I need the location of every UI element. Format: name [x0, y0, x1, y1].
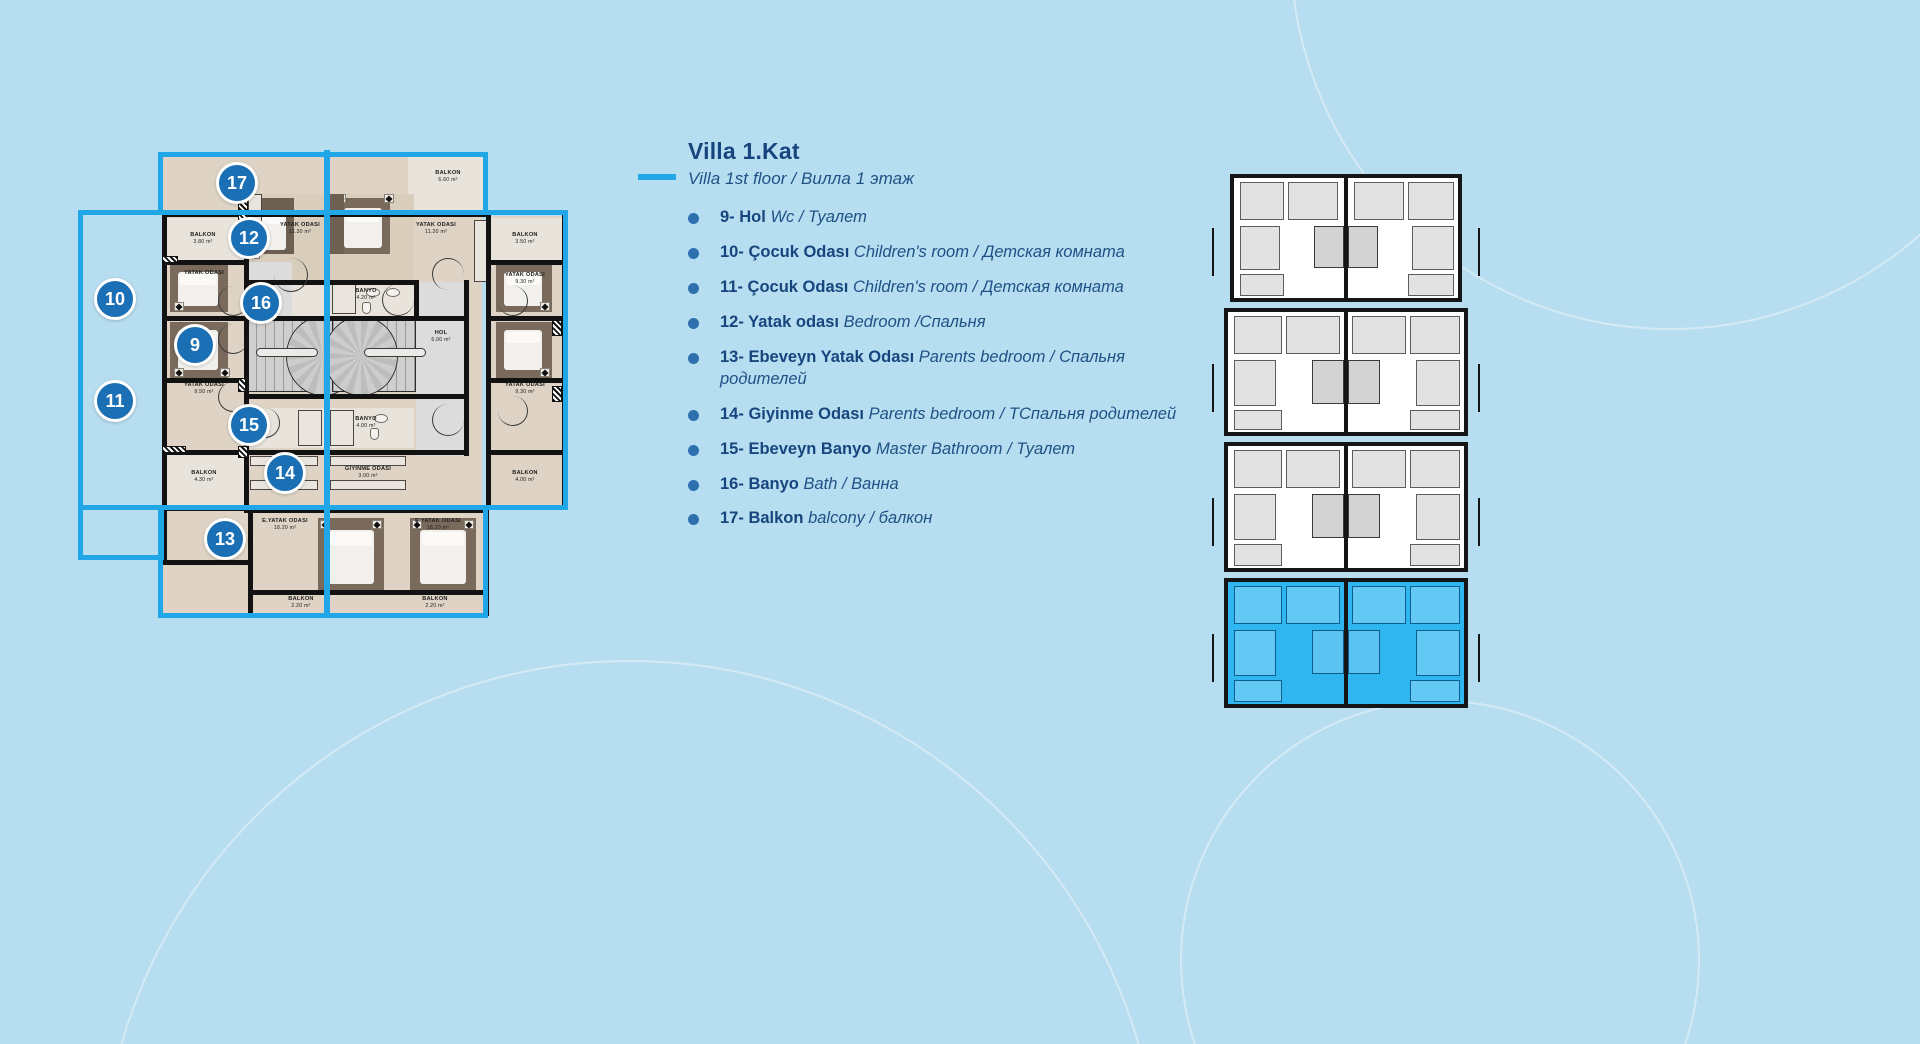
room-area: 11.20 m² [425, 229, 447, 235]
legend-number: 14- [720, 405, 744, 423]
legend-item-17[interactable]: 17- Balkon balcony / балкон [688, 508, 1208, 530]
legend-translation: balcony / балкон [808, 509, 932, 527]
room-area: 18.20 m² [274, 525, 296, 531]
room-label-balkon-right-bottom: BALKON 4.00 m² [488, 470, 562, 484]
room-label-yatak-left-top: YATAK ODASI 11.30 m² [262, 222, 338, 236]
legend-item-9[interactable]: 9- Hol Wc / Туалет [688, 207, 1208, 229]
villa-floor-plan[interactable]: BALKON 3.80 m² YATAK ODASI 11.30 m² BALK… [78, 150, 568, 620]
marker-label: 14 [275, 463, 295, 484]
legend-header: Villa 1.Kat Villa 1st floor / Вилла 1 эт… [688, 138, 1208, 189]
decorative-arc [100, 660, 1160, 1044]
room-name: E.YATAK ODASI [262, 518, 308, 524]
room-label-yatak-left-mid: YATAK ODASI 9.50 m² [166, 382, 242, 396]
bullet-icon [688, 318, 699, 329]
legend-name: Ebeveyn Banyo [748, 440, 871, 458]
legend-translation: Wc / Туалет [770, 208, 866, 226]
room-area: 2.20 m² [291, 603, 310, 609]
legend-name: Giyinme Odası [748, 405, 864, 423]
legend-item-16[interactable]: 16- Banyo Bath / Ванна [688, 474, 1208, 496]
room-area: 9.50 m² [194, 389, 213, 395]
plan-highlight-frame [78, 210, 568, 510]
accent-dash-icon [638, 174, 676, 180]
room-name: YATAK ODASI [280, 222, 320, 228]
room-name: GİYİNME ODASI [345, 466, 391, 472]
legend-translation: Children's room / Детская комната [853, 278, 1124, 296]
room-area: 18.20 m² [427, 525, 449, 531]
room-area: 4.30 m² [194, 477, 213, 483]
room-label-balkon-top-center: BALKON 6.60 m² [410, 170, 486, 184]
room-label-giyinme-right: GİYİNME ODASI 3.00 m² [330, 466, 406, 480]
plan-marker-14[interactable]: 14 [264, 452, 306, 494]
legend-translation: Master Bathroom / Туалет [876, 440, 1075, 458]
legend-name: Çocuk Odası [748, 243, 849, 261]
legend-item-14[interactable]: 14- Giyinme Odası Parents bedroom / TСпа… [688, 404, 1208, 426]
bullet-icon [688, 248, 699, 259]
room-name: BALKON [435, 170, 460, 176]
legend-number: 17- [720, 509, 744, 527]
marker-label: 15 [239, 415, 259, 436]
room-label-yatak-right-upper: YATAK ODASI 9.30 m² [488, 272, 562, 286]
room-label-banyo-bottom: BANYO 4.00 m² [336, 416, 396, 430]
marker-label: 10 [105, 289, 125, 310]
plan-marker-17[interactable]: 17 [216, 162, 258, 204]
room-area: 6.60 m² [438, 177, 457, 183]
room-name: BALKON [512, 470, 537, 476]
room-name: BALKON [288, 596, 313, 602]
plan-marker-9[interactable]: 9 [174, 324, 216, 366]
room-name: YATAK ODASI [184, 270, 224, 276]
bullet-icon [688, 283, 699, 294]
bullet-icon [688, 445, 699, 456]
room-area: 3.80 m² [193, 239, 212, 245]
plan-marker-10[interactable]: 10 [94, 278, 136, 320]
legend-item-15[interactable]: 15- Ebeveyn Banyo Master Bathroom / Туал… [688, 439, 1208, 461]
legend-number: 13- [720, 348, 744, 366]
room-area: 11.30 m² [289, 229, 311, 235]
room-area: 6.00 m² [431, 337, 450, 343]
plan-highlight-frame [78, 508, 164, 560]
room-label-yatak-right-top: YATAK ODASI 11.20 m² [398, 222, 474, 236]
legend-name: Yatak odası [748, 313, 839, 331]
marker-label: 17 [227, 173, 247, 194]
legend-number: 11- [720, 278, 743, 296]
plan-marker-15[interactable]: 15 [228, 404, 270, 446]
room-name: YATAK ODASI [505, 272, 545, 278]
room-label-yatak-right-mid: YATAK ODASI 9.30 m² [488, 382, 562, 396]
building-key-plan[interactable] [1196, 168, 1496, 728]
room-label-eyatak-left: E.YATAK ODASI 18.20 m² [250, 518, 320, 532]
marker-label: 9 [190, 335, 200, 356]
room-label-yatak-left-upper: YATAK ODASI [166, 270, 242, 277]
plan-marker-16[interactable]: 16 [240, 282, 282, 324]
room-label-balkon-left-bottom: BALKON 4.30 m² [166, 470, 242, 484]
legend-subtitle: Villa 1st floor / Вилла 1 этаж [688, 169, 1208, 189]
room-area: 2.20 m² [425, 603, 444, 609]
legend-number: 10- [720, 243, 744, 261]
room-name: YATAK ODASI [416, 222, 456, 228]
room-area: 4.00 m² [515, 477, 534, 483]
bullet-icon [688, 353, 699, 364]
room-name: BALKON [512, 232, 537, 238]
plan-marker-11[interactable]: 11 [94, 380, 136, 422]
room-name: BALKON [422, 596, 447, 602]
marker-label: 11 [105, 391, 124, 412]
room-name: HOL [435, 330, 448, 336]
bullet-icon [688, 213, 699, 224]
room-label-balkon-right-top: BALKON 3.50 m² [488, 232, 562, 246]
legend-item-11[interactable]: 11- Çocuk Odası Children's room / Детска… [688, 277, 1208, 299]
page-root: BALKON 3.80 m² YATAK ODASI 11.30 m² BALK… [0, 0, 1920, 1044]
legend-name: Çocuk Odası [748, 278, 849, 296]
room-name: YATAK ODASI [184, 382, 224, 388]
legend-number: 15- [720, 440, 744, 458]
legend-name: Banyo [748, 475, 798, 493]
bullet-icon [688, 410, 699, 421]
legend-translation: Bath / Ванна [803, 475, 898, 493]
room-name: YATAK ODASI [505, 382, 545, 388]
legend-item-10[interactable]: 10- Çocuk Odası Children's room / Детска… [688, 242, 1208, 264]
room-name: BALKON [190, 232, 215, 238]
room-label-banyo-right: BANYO 4.20 m² [336, 288, 396, 302]
room-name: BANYO [355, 416, 376, 422]
legend-item-12[interactable]: 12- Yatak odası Bedroom /Спальня [688, 312, 1208, 334]
room-label-hol-right: HOL 6.00 m² [418, 330, 464, 344]
room-name: BALKON [191, 470, 216, 476]
bullet-icon [688, 514, 699, 525]
legend-number: 9- [720, 208, 735, 226]
room-area: 4.20 m² [356, 295, 375, 301]
legend-panel: Villa 1.Kat Villa 1st floor / Вилла 1 эт… [688, 138, 1208, 543]
marker-label: 16 [251, 293, 271, 314]
room-label-eyatak-right: E.YATAK ODASI 18.20 m² [400, 518, 476, 532]
room-area: 9.30 m² [515, 279, 534, 285]
room-area: 4.00 m² [356, 423, 375, 429]
room-label-balkon-bottom-right: BALKON 2.20 m² [400, 596, 470, 610]
decorative-arc [1180, 700, 1700, 1044]
room-area: 9.30 m² [515, 389, 534, 395]
legend-item-13[interactable]: 13- Ebeveyn Yatak Odası Parents bedroom … [688, 347, 1208, 391]
room-name: BANYO [355, 288, 376, 294]
plan-marker-12[interactable]: 12 [228, 217, 270, 259]
legend-number: 16- [720, 475, 744, 493]
legend-translation: Children's room / Детская комната [854, 243, 1125, 261]
legend-translation: Bedroom /Спальня [844, 313, 986, 331]
legend-name: Hol [739, 208, 766, 226]
legend-items-list: 9- Hol Wc / Туалет 10- Çocuk Odası Child… [688, 207, 1208, 530]
legend-name: Ebeveyn Yatak Odası [748, 348, 914, 366]
plan-marker-13[interactable]: 13 [204, 518, 246, 560]
legend-number: 12- [720, 313, 744, 331]
room-name: E.YATAK ODASI [415, 518, 461, 524]
room-label-balkon-bottom-left: BALKON 2.20 m² [266, 596, 336, 610]
legend-translation: Parents bedroom / TСпальня родителей [869, 405, 1177, 423]
legend-title: Villa 1.Kat [688, 138, 1208, 165]
room-area: 3.00 m² [358, 473, 377, 479]
room-area: 3.50 m² [515, 239, 534, 245]
bullet-icon [688, 480, 699, 491]
legend-name: Balkon [748, 509, 803, 527]
marker-label: 12 [239, 228, 259, 249]
marker-label: 13 [215, 529, 235, 550]
